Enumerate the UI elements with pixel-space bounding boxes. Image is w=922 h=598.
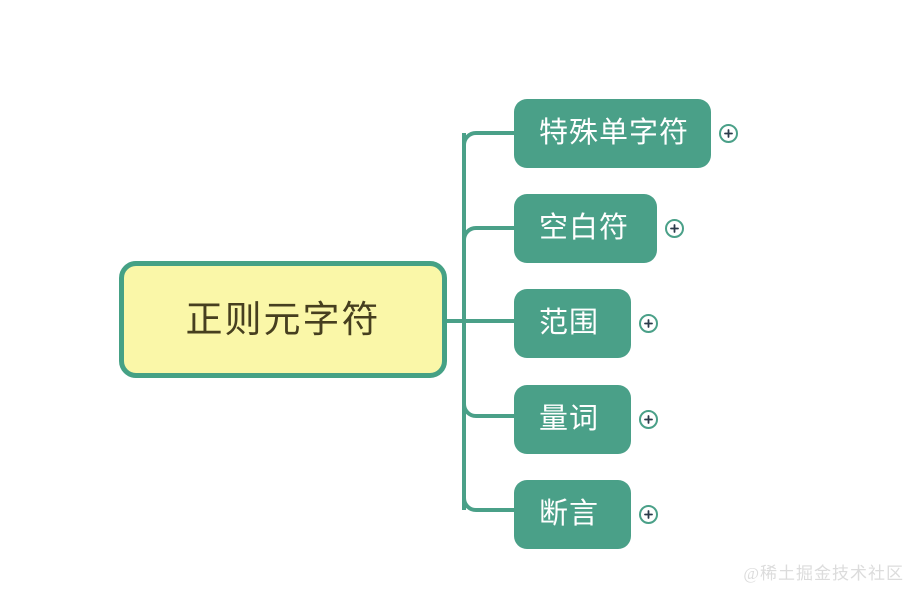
child-node-label: 范围 <box>539 309 599 338</box>
root-node-label: 正则元字符 <box>186 301 381 338</box>
connector-branch-2 <box>464 228 514 240</box>
mindmap-canvas: 正则元字符 特殊单字符 空白符 范围 <box>0 0 922 598</box>
child-node-whitespace-char[interactable]: 空白符 <box>514 194 657 263</box>
child-node-special-single-char[interactable]: 特殊单字符 <box>514 99 711 168</box>
child-node-assertion[interactable]: 断言 <box>514 480 631 549</box>
child-node-label: 特殊单字符 <box>539 119 689 148</box>
child-node-range[interactable]: 范围 <box>514 289 631 358</box>
expand-plus-icon[interactable] <box>639 505 658 524</box>
expand-plus-icon[interactable] <box>639 314 658 333</box>
child-row-quantifier: 量词 <box>514 385 658 454</box>
child-row-range: 范围 <box>514 289 658 358</box>
child-row-assertion: 断言 <box>514 480 658 549</box>
watermark: @稀土掘金技术社区 <box>743 559 904 584</box>
expand-plus-icon[interactable] <box>639 410 658 429</box>
child-row-whitespace-char: 空白符 <box>514 194 684 263</box>
root-node[interactable]: 正则元字符 <box>119 261 447 378</box>
child-node-label: 空白符 <box>539 214 629 243</box>
child-row-special-single-char: 特殊单字符 <box>514 99 738 168</box>
connector-branch-4 <box>464 404 514 416</box>
child-node-label: 断言 <box>539 500 599 529</box>
child-node-quantifier[interactable]: 量词 <box>514 385 631 454</box>
connector-branch-5 <box>464 498 514 510</box>
child-node-label: 量词 <box>539 405 599 434</box>
connector-branch-1 <box>464 133 514 145</box>
expand-plus-icon[interactable] <box>719 124 738 143</box>
expand-plus-icon[interactable] <box>665 219 684 238</box>
